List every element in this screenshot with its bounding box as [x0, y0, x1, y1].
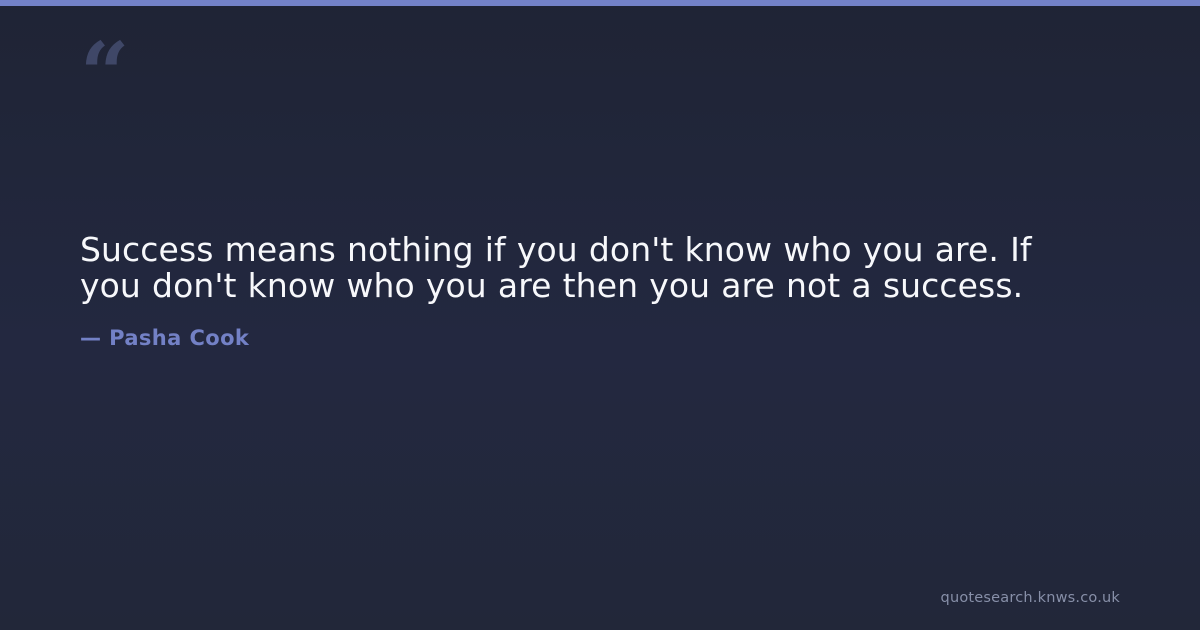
quote-text: Success means nothing if you don't know … — [80, 232, 1080, 304]
quote-author: — Pasha Cook — [80, 304, 1080, 352]
site-watermark: quotesearch.knws.co.uk — [941, 590, 1120, 606]
quote-card: “ Success means nothing if you don't kno… — [0, 0, 1200, 630]
quote-content: Success means nothing if you don't know … — [80, 232, 1080, 352]
top-accent-bar — [0, 0, 1200, 6]
quotation-mark-icon: “ — [80, 32, 140, 88]
